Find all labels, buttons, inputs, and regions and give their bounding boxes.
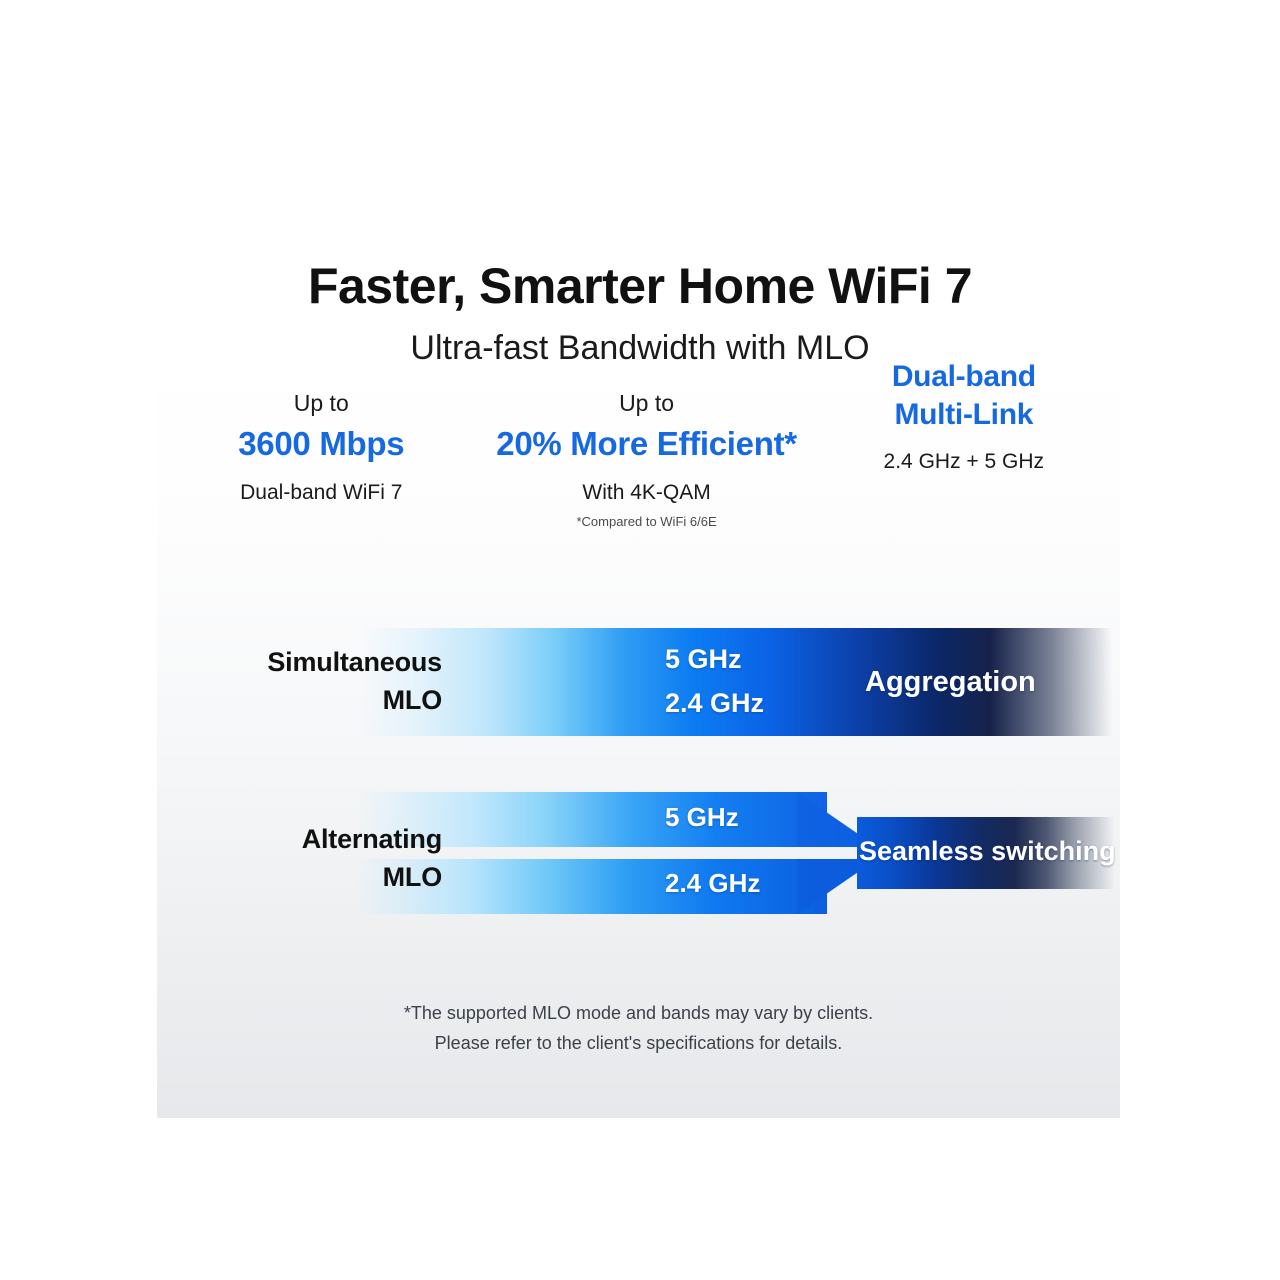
mlo-label-alternating: Alternating MLO (237, 820, 442, 896)
stat-subtext: Dual-band WiFi 7 (157, 479, 486, 507)
mlo-row-alternating: Alternating MLO 5 GHz 2.4 GHz Seamless s… (157, 790, 1120, 920)
mlo-label-line2: MLO (237, 681, 442, 719)
stat-kicker: Up to (157, 388, 486, 418)
stat-column-multilink: Dual-band Multi-Link 2.4 GHz + 5 GHz (808, 388, 1120, 543)
footnote-line2: Please refer to the client's specificati… (157, 1028, 1120, 1058)
stat-column-efficiency: Up to 20% More Efficient* With 4K-QAM *C… (486, 388, 808, 543)
mlo-label-line1: Alternating (302, 824, 442, 854)
stat-footnote: *Compared to WiFi 6/6E (486, 513, 808, 531)
band-tag-2-4ghz: 2.4 GHz (665, 868, 760, 899)
alternating-bandwidth-bar: 5 GHz 2.4 GHz Seamless switching (357, 792, 1120, 914)
stat-subtext: With 4K-QAM (486, 479, 808, 507)
stat-headline-line1: Dual-band (892, 360, 1036, 393)
stat-kicker: Up to (486, 388, 808, 418)
band-tag-5ghz: 5 GHz (665, 644, 742, 675)
stats-row: Up to 3600 Mbps Dual-band WiFi 7 Up to 2… (157, 388, 1120, 543)
seamless-switching-label: Seamless switching (859, 836, 1116, 867)
stat-subtext: 2.4 GHz + 5 GHz (808, 448, 1120, 476)
stat-headline: Dual-band Multi-Link (808, 358, 1120, 434)
stat-headline: 20% More Efficient* (486, 422, 808, 465)
footnote-line1: *The supported MLO mode and bands may va… (404, 1003, 873, 1023)
mlo-label-line1: Simultaneous (267, 647, 442, 677)
disclaimer-footnote: *The supported MLO mode and bands may va… (157, 998, 1120, 1058)
mlo-label-simultaneous: Simultaneous MLO (237, 643, 442, 719)
stat-column-speed: Up to 3600 Mbps Dual-band WiFi 7 (157, 388, 486, 543)
page-title: Faster, Smarter Home WiFi 7 (0, 256, 1280, 316)
simultaneous-bandwidth-bar: 5 GHz 2.4 GHz Aggregation (357, 628, 1120, 736)
band-tag-2-4ghz: 2.4 GHz (665, 688, 764, 719)
mlo-row-simultaneous: Simultaneous MLO 5 GHz 2.4 GHz Aggregati… (157, 620, 1120, 750)
band-tag-5ghz: 5 GHz (665, 802, 739, 833)
stat-headline: 3600 Mbps (157, 422, 486, 465)
aggregation-label: Aggregation (865, 666, 1036, 699)
mlo-label-line2: MLO (237, 858, 442, 896)
stat-headline-line2: Multi-Link (808, 396, 1120, 434)
page-root: Faster, Smarter Home WiFi 7 Ultra-fast B… (0, 0, 1280, 1280)
